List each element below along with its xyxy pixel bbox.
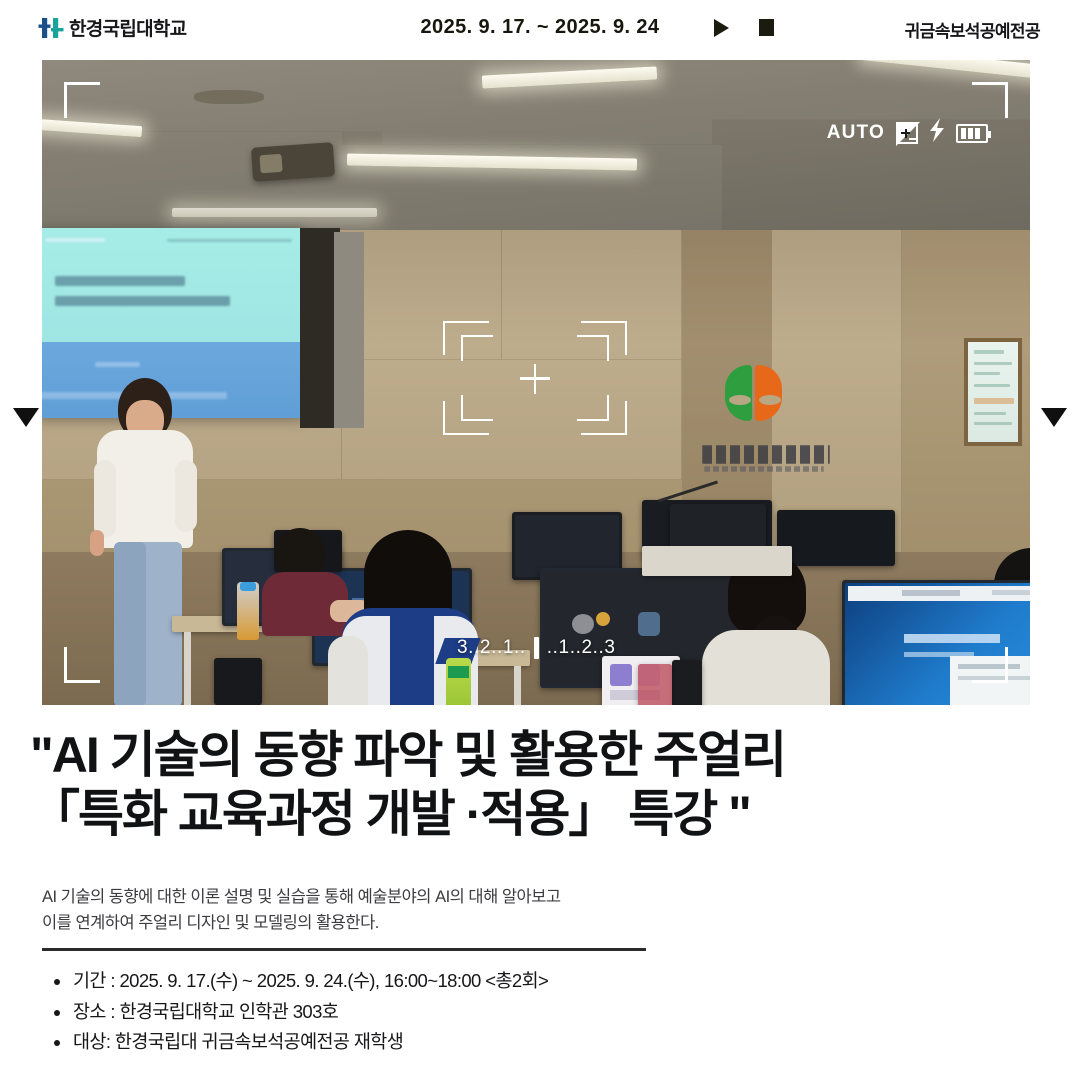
play-icon[interactable]	[714, 19, 729, 37]
triangle-down-icon-left[interactable]	[13, 408, 39, 427]
list-item: 기간 : 2025. 9. 17.(수) ~ 2025. 9. 24.(수), …	[46, 966, 946, 997]
wall-notice-board	[964, 338, 1022, 446]
bottle	[237, 582, 259, 640]
wall-university-text	[702, 445, 830, 464]
stop-icon[interactable]	[759, 19, 774, 36]
monitor	[842, 580, 1030, 705]
wall-university-subtext	[704, 466, 824, 472]
event-photo: AUTO 3..2..1.. ..1..2..3	[42, 60, 1030, 705]
department-label: 귀금속보석공예전공	[905, 17, 1040, 42]
ceiling	[42, 60, 1030, 235]
wall-column-light	[334, 232, 364, 428]
title-line-1: "AI 기술의 동향 파악 및 활용한 주얼리	[30, 726, 1060, 785]
detail-list: 기간 : 2025. 9. 17.(수) ~ 2025. 9. 24.(수), …	[46, 966, 946, 1058]
description-line-2: 이를 연계하여 주얼리 디자인 및 모델링의 활용한다.	[42, 910, 802, 936]
bottle	[446, 658, 471, 705]
leaf-emblem-icon	[725, 365, 787, 421]
divider	[42, 948, 646, 951]
description-line-1: AI 기술의 동향에 대한 이론 설명 및 실습을 통해 예술분야의 AI의 대…	[42, 884, 802, 910]
title-line-2: 「특화 교육과정 개발 ·적용」 특강 "	[30, 785, 1060, 844]
list-item: 장소 : 한경국립대학교 인학관 303호	[46, 997, 946, 1028]
ceiling-projector	[251, 142, 335, 182]
page-title: "AI 기술의 동향 파악 및 활용한 주얼리 「특화 교육과정 개발 ·적용」…	[30, 726, 1060, 844]
list-item: 대상: 한경국립대 귀금속보석공예전공 재학생	[46, 1027, 946, 1058]
monitor	[777, 510, 895, 566]
page-header: 한경국립대학교 2025. 9. 17. ~ 2025. 9. 24 귀금속보석…	[0, 0, 1080, 56]
triangle-down-icon-right[interactable]	[1041, 408, 1067, 427]
description: AI 기술의 동향에 대한 이론 설명 및 실습을 통해 예술분야의 AI의 대…	[42, 884, 802, 936]
projection-screen	[42, 228, 305, 418]
